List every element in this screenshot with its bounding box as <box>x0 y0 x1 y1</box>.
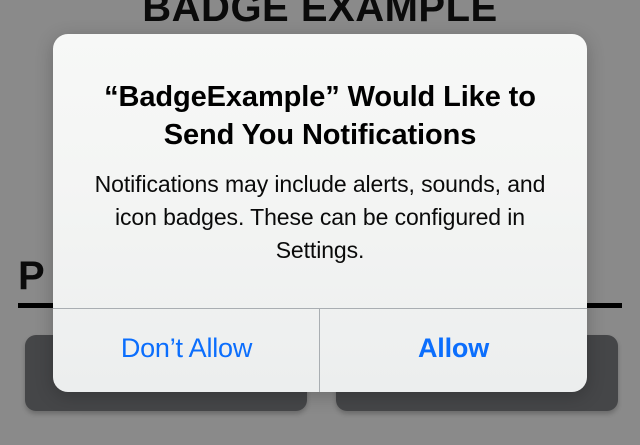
notification-permission-alert: “BadgeExample” Would Like to Send You No… <box>53 34 587 392</box>
dont-allow-button[interactable]: Don’t Allow <box>53 309 320 392</box>
allow-button[interactable]: Allow <box>320 309 587 392</box>
page-title: BADGE EXAMPLE <box>0 0 640 31</box>
alert-message: Notifications may include alerts, sounds… <box>79 154 561 267</box>
alert-content: “BadgeExample” Would Like to Send You No… <box>53 34 587 308</box>
alert-title: “BadgeExample” Would Like to Send You No… <box>79 34 561 154</box>
alert-action-divider-vertical <box>319 309 320 392</box>
section-heading: P <box>18 254 45 298</box>
alert-action-bar: Don’t Allow Allow <box>53 309 587 392</box>
